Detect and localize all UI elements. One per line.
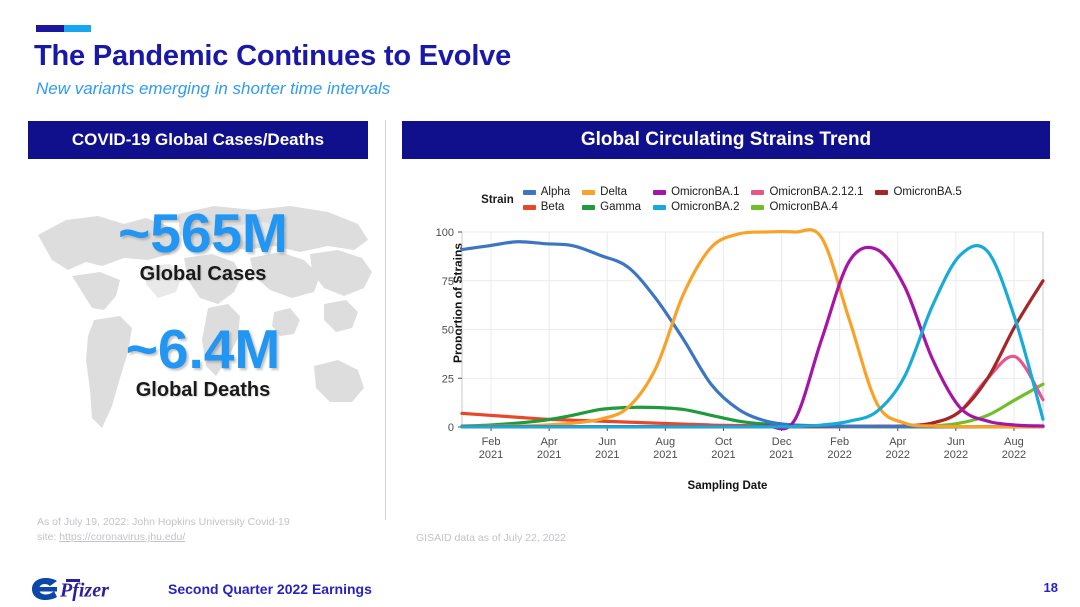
panel-divider [385,120,386,520]
stat-global-deaths: ~6.4M Global Deaths [28,322,378,402]
legend-label: Beta [541,201,565,213]
left-footnote-prefix: site: [37,531,59,543]
legend-column-4: OmicronBA.2.12.1OmicronBA.4 [751,186,863,213]
legend-swatch-icon [582,190,595,195]
legend-item-omicronba-2[interactable]: OmicronBA.2 [653,201,739,213]
stat-global-cases: ~565M Global Cases [28,206,378,286]
global-cases-label: Global Cases [28,263,378,286]
x-tick-label-month: Jun [947,436,965,448]
legend-swatch-icon [523,205,536,210]
left-footnote: As of July 19, 2022: John Hopkins Univer… [37,515,367,545]
page-subtitle: New variants emerging in shorter time in… [36,79,390,99]
y-tick-label: 25 [442,373,454,385]
legend-column-5: OmicronBA.5 [875,186,961,213]
plot-area: 0255075100Feb2021Apr2021Jun2021Aug2021Oc… [400,224,1055,479]
x-tick-label-month: Aug [656,436,676,448]
legend-swatch-icon [751,190,764,195]
x-tick-label-month: Dec [772,436,792,448]
strains-trend-chart: Strain AlphaBetaDeltaGammaOmicronBA.1Omi… [400,178,1055,508]
legend-item-omicronba-5[interactable]: OmicronBA.5 [875,186,961,198]
x-tick-label-year: 2021 [479,449,503,461]
legend-label: OmicronBA.2 [671,201,739,213]
legend-swatch-icon [653,190,666,195]
legend-title: Strain [481,194,514,206]
legend-columns: AlphaBetaDeltaGammaOmicronBA.1OmicronBA.… [523,186,974,213]
y-tick-label: 75 [442,276,454,288]
legend-column-1: AlphaBeta [523,186,570,213]
x-tick-label-year: 2021 [653,449,677,461]
x-tick-label-month: Feb [830,436,849,448]
legend-swatch-icon [582,205,595,210]
y-tick-label: 50 [442,325,454,337]
x-tick-label-year: 2021 [537,449,561,461]
legend-swatch-icon [523,190,536,195]
legend-item-gamma[interactable]: Gamma [582,201,641,213]
x-tick-label-year: 2022 [827,449,851,461]
legend-column-3: OmicronBA.1OmicronBA.2 [653,186,739,213]
accent-bar-dark [36,25,64,32]
x-tick-label-year: 2021 [595,449,619,461]
right-footnote: GISAID data as of July 22, 2022 [416,531,716,546]
left-footnote-line1: As of July 19, 2022: John Hopkins Univer… [37,516,290,528]
x-tick-label-year: 2022 [886,449,910,461]
legend-item-omicronba-2-12-1[interactable]: OmicronBA.2.12.1 [751,186,863,198]
legend-swatch-icon [875,190,888,195]
legend-label: OmicronBA.2.12.1 [769,186,863,198]
left-panel-header: COVID-19 Global Cases/Deaths [28,121,368,159]
global-deaths-value: ~6.4M [28,322,378,377]
legend-item-omicronba-4[interactable]: OmicronBA.4 [751,201,863,213]
x-tick-label-month: Feb [482,436,501,448]
x-tick-label-year: 2022 [944,449,968,461]
legend-item-beta[interactable]: Beta [523,201,570,213]
legend-label: OmicronBA.1 [671,186,739,198]
x-tick-label-year: 2021 [769,449,793,461]
legend-item-alpha[interactable]: Alpha [523,186,570,198]
x-tick-label-year: 2022 [1002,449,1026,461]
chart-legend: Strain AlphaBetaDeltaGammaOmicronBA.1Omi… [400,186,1055,213]
legend-item-omicronba-1[interactable]: OmicronBA.1 [653,186,739,198]
slide-root: The Pandemic Continues to Evolve New var… [0,0,1080,607]
legend-label: OmicronBA.5 [893,186,961,198]
accent-bar-light [64,25,92,32]
legend-label: Gamma [600,201,641,213]
svg-text:Pfizer: Pfizer [59,580,109,602]
y-tick-label: 100 [436,227,454,239]
left-stats-panel: ~565M Global Cases ~6.4M Global Deaths [28,180,378,470]
jhu-link[interactable]: https://coronavirus.jhu.edu/ [59,531,185,543]
global-cases-value: ~565M [28,206,378,261]
legend-label: OmicronBA.4 [769,201,837,213]
footer-title: Second Quarter 2022 Earnings [168,581,372,597]
legend-swatch-icon [751,205,764,210]
legend-column-2: DeltaGamma [582,186,641,213]
right-panel-header: Global Circulating Strains Trend [402,121,1050,159]
legend-item-delta[interactable]: Delta [582,186,641,198]
legend-label: Delta [600,186,627,198]
x-tick-label-month: Apr [889,436,906,448]
x-axis-label: Sampling Date [400,480,1055,492]
x-tick-label-year: 2021 [711,449,735,461]
x-tick-label-month: Jun [598,436,616,448]
pfizer-logo: Pfizer [28,576,143,602]
legend-label: Alpha [541,186,570,198]
global-deaths-label: Global Deaths [28,379,378,402]
x-tick-label-month: Aug [1004,436,1024,448]
page-title: The Pandemic Continues to Evolve [34,40,511,73]
x-tick-label-month: Oct [715,436,732,448]
accent-bar [36,25,91,32]
legend-swatch-icon [653,205,666,210]
x-tick-label-month: Apr [541,436,558,448]
y-tick-label: 0 [448,422,454,434]
page-number: 18 [1044,580,1058,595]
